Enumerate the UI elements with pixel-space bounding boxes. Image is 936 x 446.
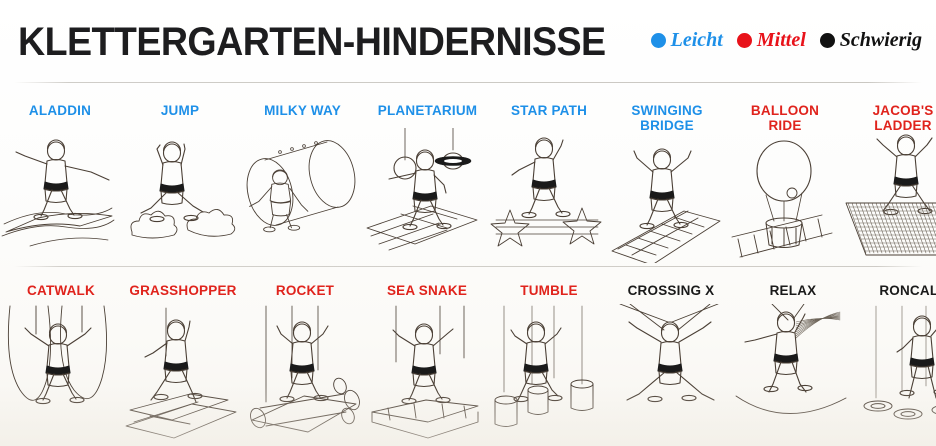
- rope-ladder-bridge-illustration: [608, 133, 726, 265]
- black-dot-icon: [820, 33, 835, 48]
- jumper-over-clouds-illustration: [120, 118, 240, 260]
- hot-air-balloon-basket-illustration: [726, 133, 844, 265]
- obstacle-label: BALLOON RIDE: [751, 92, 819, 133]
- legend-item-leicht: Leicht: [651, 30, 723, 50]
- crossed-ropes-x-illustration: [610, 298, 732, 446]
- legend-label-leicht: Leicht: [671, 30, 723, 50]
- obstacle-label: JUMP: [161, 92, 199, 118]
- obstacle-cell[interactable]: STAR PATH: [490, 92, 608, 260]
- obstacle-cell[interactable]: SEA SNAKE: [366, 272, 488, 446]
- difficulty-legend: Leicht Mittel Schwierig: [651, 30, 922, 50]
- obstacle-cell[interactable]: RELAX: [732, 272, 854, 446]
- obstacle-cell[interactable]: SWINGING BRIDGE: [608, 92, 726, 260]
- stepping-planks-illustration: [122, 298, 244, 446]
- obstacle-label: ALADDIN: [29, 92, 91, 118]
- obstacle-cell[interactable]: BALLOON RIDE: [726, 92, 844, 260]
- poster-header: KLETTERGARTEN-HINDERNISSE Leicht Mittel …: [0, 0, 936, 86]
- slackline-with-fan-illustration: [732, 298, 854, 446]
- obstacle-label: JACOB'S LADDER: [873, 92, 934, 133]
- hanging-loops-walk-illustration: [0, 298, 122, 446]
- obstacle-cell[interactable]: ROCKET: [244, 272, 366, 446]
- obstacle-cell[interactable]: PLANETARIUM: [365, 92, 490, 260]
- wobbling-plank-snake-illustration: [366, 298, 488, 446]
- legend-label-mittel: Mittel: [757, 30, 806, 50]
- obstacle-label: CATWALK: [27, 272, 95, 298]
- obstacle-label: RELAX: [770, 272, 817, 298]
- header-divider: [14, 82, 922, 83]
- obstacle-label: ROCKET: [276, 272, 334, 298]
- obstacle-cell[interactable]: JUMP: [120, 92, 240, 260]
- obstacle-cell[interactable]: ALADDIN: [0, 92, 120, 260]
- obstacle-cell[interactable]: CATWALK: [0, 272, 122, 446]
- climbing-net-ladder-illustration: [844, 133, 936, 265]
- obstacle-label: MILKY WAY: [264, 92, 341, 118]
- walking-between-stars-illustration: [490, 118, 608, 260]
- obstacle-cell[interactable]: CROSSING X: [610, 272, 732, 446]
- poster-canvas: KLETTERGARTEN-HINDERNISSE Leicht Mittel …: [0, 0, 936, 446]
- obstacle-label: STAR PATH: [511, 92, 587, 118]
- legend-item-mittel: Mittel: [737, 30, 806, 50]
- obstacle-label: GRASSHOPPER: [129, 272, 236, 298]
- obstacle-row-easy: ALADDINJUMPMILKY WAYPLANETARIUMSTAR PATH…: [0, 92, 936, 260]
- blue-dot-icon: [651, 33, 666, 48]
- obstacle-cell[interactable]: JACOB'S LADDER: [844, 92, 936, 260]
- legend-label-schwierig: Schwierig: [840, 30, 922, 50]
- obstacle-cell[interactable]: GRASSHOPPER: [122, 272, 244, 446]
- obstacle-row-hard: CATWALKGRASSHOPPERROCKETSEA SNAKETUMBLEC…: [0, 272, 936, 446]
- row-divider: [14, 266, 922, 267]
- legend-item-schwierig: Schwierig: [820, 30, 922, 50]
- obstacle-label: SEA SNAKE: [387, 272, 467, 298]
- page-title: KLETTERGARTEN-HINDERNISSE: [18, 20, 606, 64]
- obstacle-label: TUMBLE: [520, 272, 577, 298]
- obstacle-cell[interactable]: MILKY WAY: [240, 92, 365, 260]
- hanging-rings-row-illustration: [854, 298, 936, 446]
- obstacle-label: PLANETARIUM: [378, 92, 477, 118]
- hanging-barrels-illustration: [488, 298, 610, 446]
- obstacle-cell[interactable]: TUMBLE: [488, 272, 610, 446]
- obstacle-label: SWINGING BRIDGE: [631, 92, 702, 133]
- planet-rings-on-beams-illustration: [365, 118, 490, 260]
- obstacle-label: RONCALLI: [879, 272, 936, 298]
- red-dot-icon: [737, 33, 752, 48]
- obstacle-cell[interactable]: RONCALLI: [854, 272, 936, 446]
- obstacle-label: CROSSING X: [628, 272, 715, 298]
- log-bundle-rocket-illustration: [244, 298, 366, 446]
- surfer-on-wavy-platform-illustration: [0, 118, 120, 260]
- crawling-through-barrel-illustration: [240, 118, 365, 260]
